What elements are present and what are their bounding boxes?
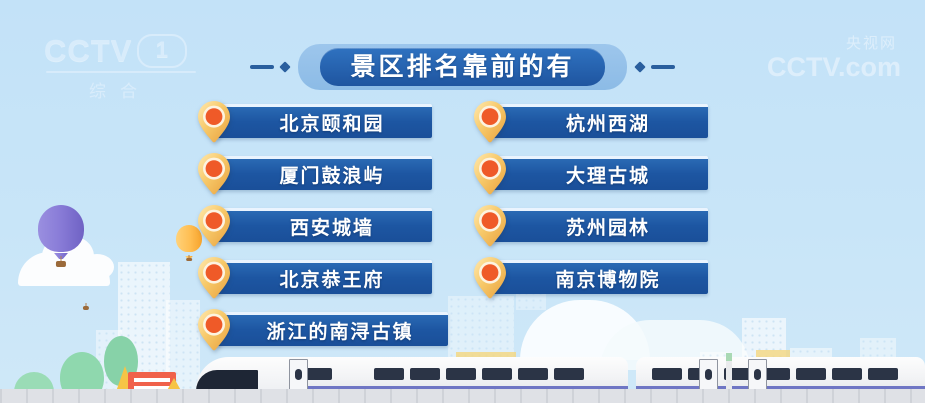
- train-nose: [196, 357, 292, 391]
- title-banner: 景区排名靠前的有: [0, 44, 925, 90]
- page-title: 景区排名靠前的有: [350, 52, 574, 82]
- attraction-label: 北京颐和园: [263, 109, 384, 136]
- broadcast-graphic: CCTV 1 综合 央视网 CCTV.com 景区排名靠前的有 北京颐和园厦门鼓…: [0, 0, 925, 403]
- title-capsule: 景区排名靠前的有: [298, 44, 626, 90]
- high-speed-train: [0, 357, 925, 403]
- map-pin-icon: [472, 152, 508, 196]
- attraction-bar[interactable]: 北京恭王府: [216, 260, 432, 294]
- map-pin-icon: [472, 256, 508, 300]
- ornament-right: [636, 63, 675, 71]
- diamond-icon: [634, 61, 645, 72]
- attraction-bar[interactable]: 北京颐和园: [216, 104, 432, 138]
- rail-bed: [0, 389, 925, 403]
- map-pin-icon: [472, 100, 508, 144]
- map-pin-icon: [196, 100, 232, 144]
- train-door: [699, 359, 718, 391]
- purple-balloon: [38, 205, 84, 267]
- attraction-bar[interactable]: 南京博物院: [492, 260, 708, 294]
- attraction-bar[interactable]: 浙江的南浔古镇: [216, 312, 448, 346]
- train-door: [748, 359, 767, 391]
- map-pin-icon: [196, 256, 232, 300]
- attraction-label: 西安城墙: [274, 213, 374, 240]
- train-car: [636, 357, 925, 391]
- map-pin-icon: [196, 308, 232, 352]
- attraction-bar[interactable]: 厦门鼓浪屿: [216, 156, 432, 190]
- orange-balloon: [72, 270, 100, 310]
- attraction-label: 北京恭王府: [263, 265, 384, 292]
- ornament-left: [250, 63, 289, 71]
- attraction-label: 浙江的南浔古镇: [250, 317, 413, 344]
- attraction-bar[interactable]: 大理古城: [492, 156, 708, 190]
- attraction-label: 杭州西湖: [550, 109, 650, 136]
- attraction-bar[interactable]: 苏州园林: [492, 208, 708, 242]
- cloud-left: [18, 252, 110, 286]
- attraction-bar[interactable]: 杭州西湖: [492, 104, 708, 138]
- attraction-label: 厦门鼓浪屿: [263, 161, 384, 188]
- cloud-center: [520, 300, 650, 360]
- attraction-label: 大理古城: [550, 161, 650, 188]
- platform-pole: [726, 357, 732, 391]
- diamond-icon: [280, 61, 291, 72]
- attraction-label: 苏州园林: [550, 213, 650, 240]
- train-door: [289, 359, 308, 391]
- map-pin-icon: [196, 152, 232, 196]
- title-pill: 景区排名靠前的有: [320, 48, 604, 86]
- dash-icon: [250, 65, 274, 69]
- attraction-bar[interactable]: 西安城墙: [216, 208, 432, 242]
- attraction-label: 南京博物院: [539, 265, 660, 292]
- dash-icon: [651, 65, 675, 69]
- map-pin-icon: [196, 204, 232, 248]
- train-car: [256, 357, 628, 391]
- map-pin-icon: [472, 204, 508, 248]
